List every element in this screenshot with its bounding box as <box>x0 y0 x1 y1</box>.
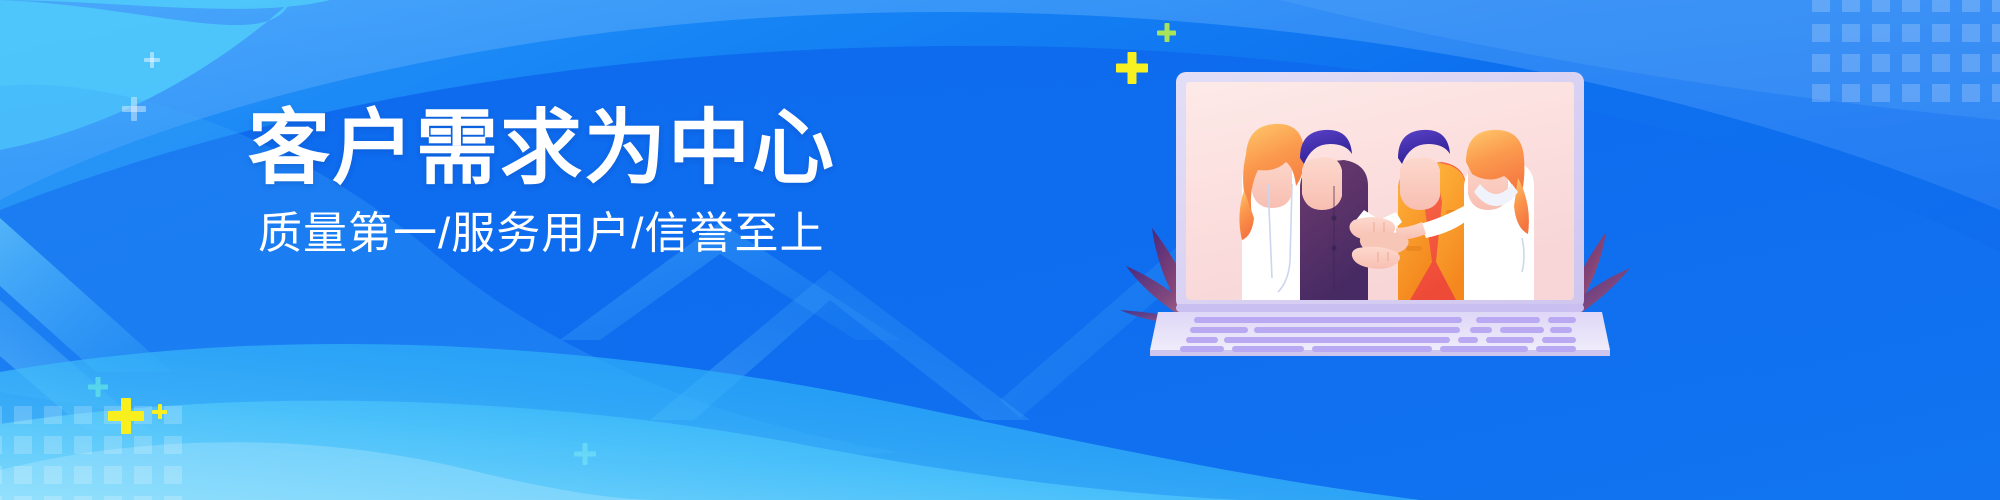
dot-grid-top-right <box>1812 0 2000 102</box>
laptop-teamwork-illustration <box>1150 62 1610 358</box>
plus-icon-yellow-tiny <box>152 404 167 419</box>
plus-icon-cyan-middle <box>574 443 596 465</box>
banner-subheadline: 质量第一/服务用户/信誉至上 <box>258 212 808 256</box>
banner-headline: 客户需求为中心 <box>248 108 808 190</box>
promo-banner: 客户需求为中心 质量第一/服务用户/信誉至上 <box>0 0 2000 500</box>
dot-grid-bottom-left <box>0 406 182 500</box>
plus-icon-yellow-bottom-left <box>108 398 144 434</box>
banner-text-block: 客户需求为中心 质量第一/服务用户/信誉至上 <box>248 108 808 256</box>
plus-icon-white-medium <box>122 97 146 121</box>
plus-icon-cyan-small <box>88 377 108 397</box>
plus-icon-yellow-large <box>1116 52 1148 84</box>
plus-icon-green-small <box>1157 23 1176 42</box>
laptop-hinge <box>1176 304 1584 312</box>
plus-icon-white-small <box>144 52 160 68</box>
